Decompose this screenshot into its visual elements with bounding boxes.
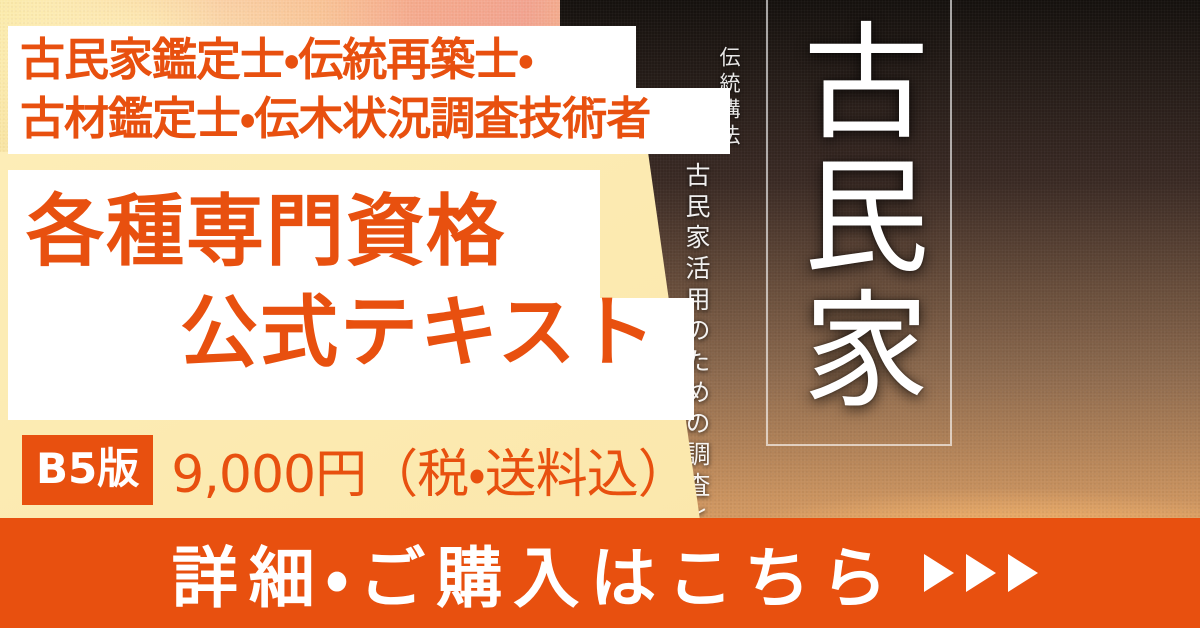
cta-arrow-group xyxy=(924,554,1038,592)
triangle-right-icon xyxy=(966,554,996,592)
promotional-banner: 伝統構法 古民家活用のための調査と再生の 古民家 古民家鑑定士・伝統再築士・ 古… xyxy=(0,0,1200,628)
book-cover-title: 古民家 xyxy=(782,16,928,418)
headline-line-1: 古民家鑑定士・伝統再築士・ xyxy=(20,30,720,89)
price-amount: 9,000円（税・送料込） xyxy=(171,432,689,507)
main-title-line-1: 各種専門資格 xyxy=(14,182,694,283)
size-badge: B5版 xyxy=(22,435,153,505)
triangle-right-icon xyxy=(924,554,954,592)
headline: 古民家鑑定士・伝統再築士・ 古材鑑定士・伝木状況調査技術者 xyxy=(20,30,720,149)
triangle-right-icon xyxy=(1008,554,1038,592)
cta-label: 詳細・ご購入はこちら xyxy=(162,525,898,621)
cta-bar[interactable]: 詳細・ご購入はこちら xyxy=(0,518,1200,628)
price-row: B5版 9,000円（税・送料込） xyxy=(22,432,689,507)
main-title-line-2: 公式テキスト xyxy=(14,283,694,384)
main-title: 各種専門資格 公式テキスト xyxy=(14,182,694,385)
headline-line-2: 古材鑑定士・伝木状況調査技術者 xyxy=(20,89,720,148)
